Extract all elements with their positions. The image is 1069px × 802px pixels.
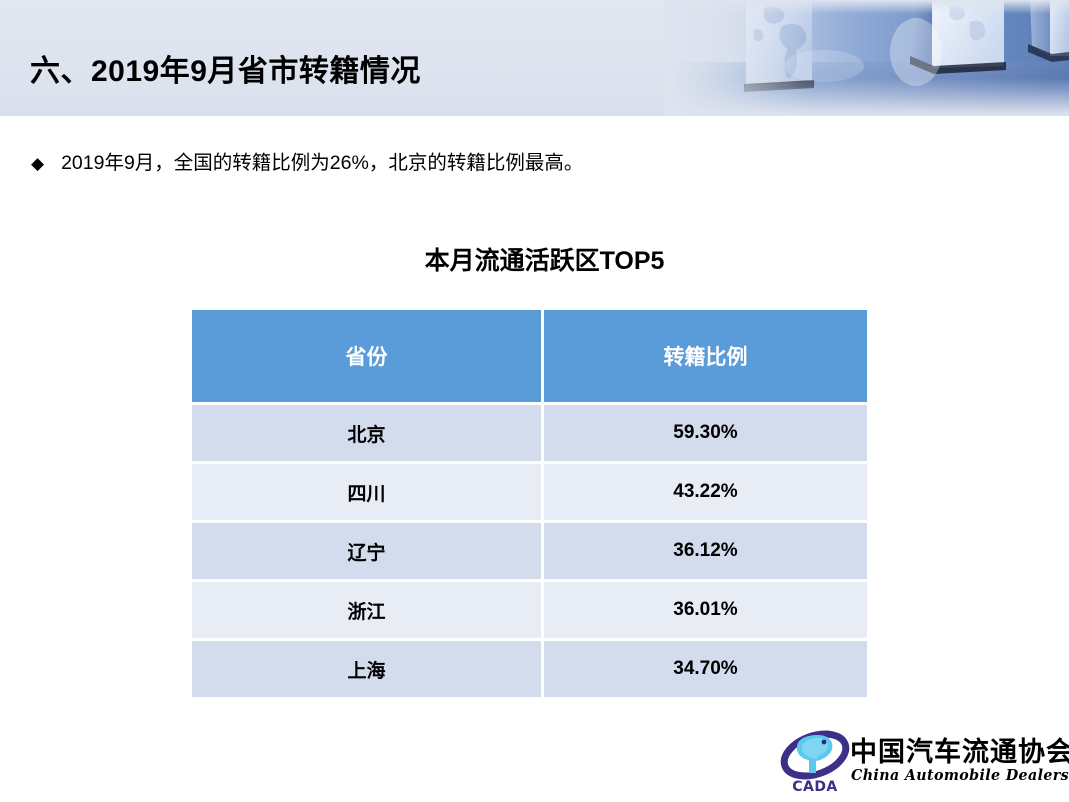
logo-name-english: China Automobile Dealers Association [851,767,1069,784]
table-title: 本月流通活跃区TOP5 [10,241,1069,277]
table-header-ratio: 转籍比例 [544,310,867,402]
bullet-text: 2019年9月，全国的转籍比例为26%，北京的转籍比例最高。 [61,152,583,175]
cell-ratio: 36.01% [544,582,867,638]
cell-ratio: 36.12% [544,523,867,579]
diamond-bullet-icon: ◆ [31,155,44,172]
cell-ratio: 34.70% [544,641,867,697]
cell-province: 浙江 [192,582,541,638]
table-header-province: 省份 [192,310,541,402]
cell-province: 辽宁 [192,523,541,579]
table-header-row: 省份 转籍比例 [192,310,867,402]
cell-province: 上海 [192,641,541,697]
cada-logo-text: 中国汽车流通协会 China Automobile Dealers Associ… [850,729,1063,795]
cell-ratio: 59.30% [544,405,867,461]
slide-header-band: 六、2019年9月省市转籍情况 [0,0,1069,116]
cell-province: 四川 [192,464,541,520]
bullet-point: ◆ 2019年9月，全国的转籍比例为26%，北京的转籍比例最高。 [31,152,583,175]
page-title: 六、2019年9月省市转籍情况 [30,46,421,90]
table-row: 上海 34.70% [192,641,867,697]
cada-emblem-icon: CADA [778,729,852,795]
cell-ratio: 43.22% [544,464,867,520]
top5-transfer-table: 省份 转籍比例 北京 59.30% 四川 43.22% 辽宁 36.12% 浙江… [189,307,870,700]
cada-logo: CADA 中国汽车流通协会 China Automobile Dealers A… [778,729,1063,795]
header-decoration-cubes [664,0,1069,116]
table-row: 四川 43.22% [192,464,867,520]
cell-province: 北京 [192,405,541,461]
table-row: 辽宁 36.12% [192,523,867,579]
table-row: 北京 59.30% [192,405,867,461]
table-row: 浙江 36.01% [192,582,867,638]
logo-name-chinese: 中国汽车流通协会 [850,730,1069,769]
cada-acronym: CADA [792,779,838,795]
